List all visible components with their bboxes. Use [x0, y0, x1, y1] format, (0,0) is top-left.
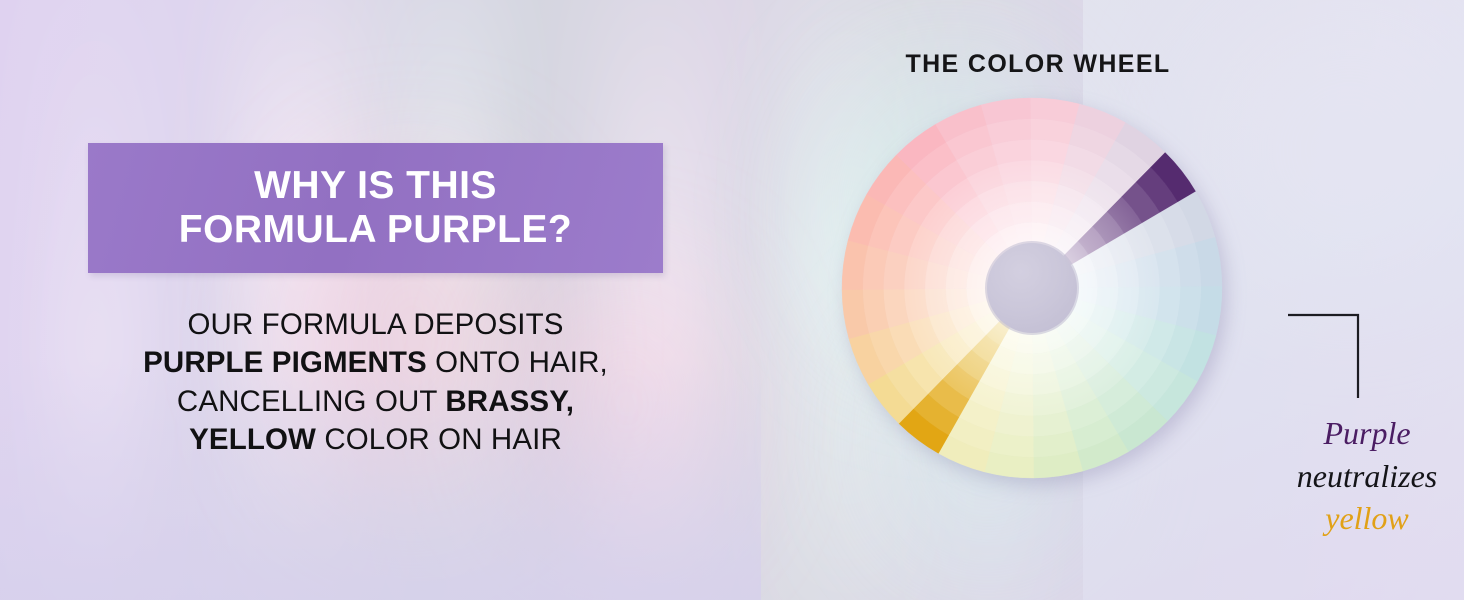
- color-wheel-graphic: [840, 96, 1224, 480]
- body-copy-line-4-text: COLOR ON HAIR: [316, 423, 562, 456]
- body-copy-emphasis-brassy: BRASSY,: [445, 385, 574, 418]
- pointer-bracket-icon: [1286, 312, 1366, 400]
- caption-line-purple: Purple: [1264, 412, 1464, 455]
- color-wheel-svg: [840, 96, 1224, 480]
- body-copy-emphasis-purple-pigments: PURPLE PIGMENTS: [143, 346, 427, 379]
- caption-text: Purple neutralizes yellow: [1264, 412, 1464, 540]
- headline-line-1: WHY IS THIS: [254, 164, 497, 208]
- body-copy-line-1-text: OUR FORMULA DEPOSITS: [187, 308, 563, 341]
- headline-banner: WHY IS THIS FORMULA PURPLE?: [88, 143, 663, 273]
- caption-line-neutralizes: neutralizes: [1264, 455, 1464, 498]
- body-copy-line-3: CANCELLING OUT BRASSY,: [88, 383, 663, 421]
- body-copy-line-1: OUR FORMULA DEPOSITS: [88, 306, 663, 344]
- caption-section: Purple neutralizes yellow: [1270, 0, 1464, 600]
- body-copy-line-4: YELLOW COLOR ON HAIR: [88, 421, 663, 459]
- body-copy-line-3-text: CANCELLING OUT: [177, 385, 445, 418]
- caption-line-yellow: yellow: [1264, 497, 1464, 540]
- body-copy-emphasis-yellow: YELLOW: [189, 423, 316, 456]
- color-wheel-section: THE COLOR WHEEL: [838, 0, 1238, 600]
- body-copy-line-2-text: ONTO HAIR,: [427, 346, 608, 379]
- body-copy-line-2: PURPLE PIGMENTS ONTO HAIR,: [88, 344, 663, 382]
- left-content-column: WHY IS THIS FORMULA PURPLE? OUR FORMULA …: [0, 0, 700, 600]
- body-copy: OUR FORMULA DEPOSITS PURPLE PIGMENTS ONT…: [88, 306, 663, 459]
- color-wheel-hub: [987, 243, 1077, 333]
- color-wheel-title: THE COLOR WHEEL: [838, 50, 1238, 79]
- headline-line-2: FORMULA PURPLE?: [179, 208, 572, 252]
